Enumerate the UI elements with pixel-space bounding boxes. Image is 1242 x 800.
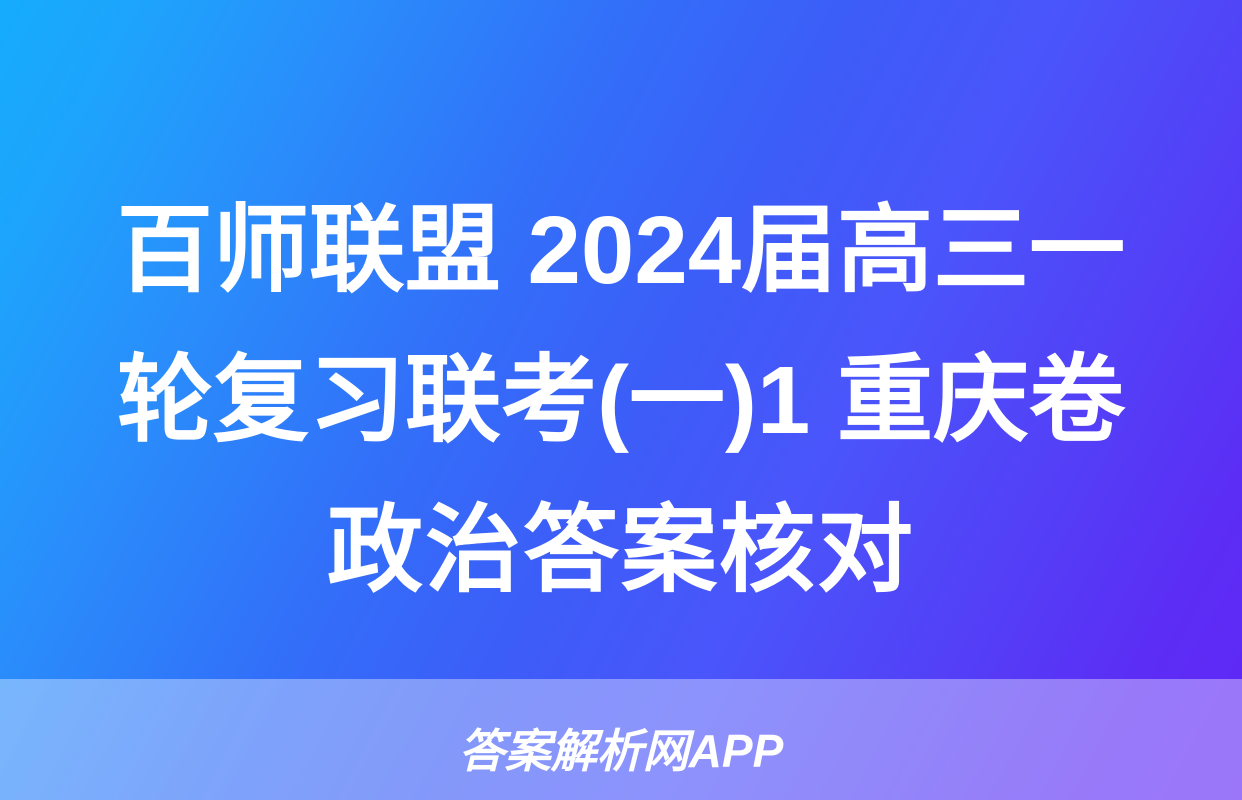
title-card: 百师联盟 2024届高三一 轮复习联考(一)1 重庆卷 政治答案核对 答案解析网… [0,0,1242,800]
watermark-app-label: 答案解析网APP [459,726,784,776]
footer-watermark-band: 答案解析网APP [0,679,1242,800]
title-line-2: 轮复习联考(一)1 重庆卷 [34,326,1208,476]
title-line-3: 政治答案核对 [34,476,1208,626]
page-title: 百师联盟 2024届高三一 轮复习联考(一)1 重庆卷 政治答案核对 [0,176,1242,626]
title-line-1: 百师联盟 2024届高三一 [34,176,1208,326]
